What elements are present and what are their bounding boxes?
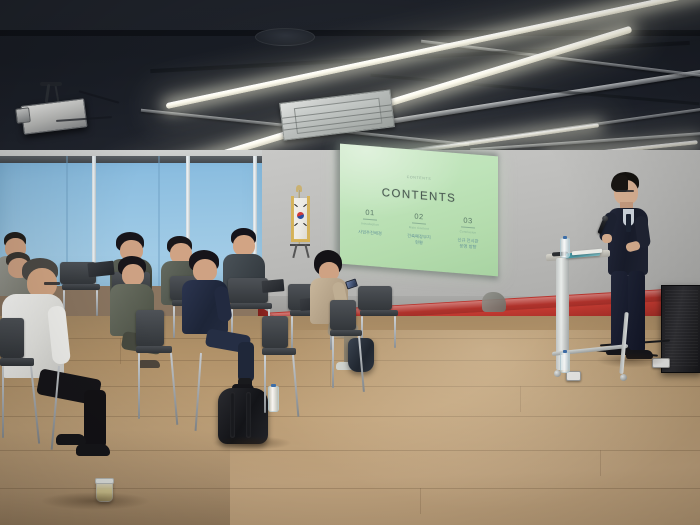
presenter-hand-left: [602, 234, 612, 243]
presenter-necktie: [626, 214, 631, 232]
ceiling-dome-fixture: [255, 28, 315, 46]
water-bottle: [560, 352, 570, 373]
slide-section: 03 Conclusion 신규 전시관 운영 방향: [446, 214, 490, 252]
water-bottle: [268, 386, 279, 412]
floor-shadow: [40, 492, 150, 510]
slide-divider: [412, 222, 426, 224]
shoe: [56, 434, 86, 445]
projection-screen: CONTENTS CONTENTS 01 Introduction 사업추진배경…: [340, 144, 498, 277]
slide-section-caption: Main Content: [397, 224, 441, 232]
presenter-shadow: [596, 352, 666, 368]
presenter-leg-right: [628, 271, 645, 354]
projector-cable: [79, 90, 120, 103]
slide-section: 01 Introduction 사업추진배경: [348, 206, 392, 244]
slide-section-caption: Introduction: [348, 220, 392, 228]
laptop: [87, 261, 114, 278]
shoe: [76, 444, 110, 456]
slide-divider: [363, 218, 377, 220]
eyeglasses-icon: [616, 190, 634, 192]
slide-section-number: 03: [446, 214, 490, 227]
eyeglasses-icon: [44, 282, 60, 285]
slide-section-subtitle: 신규 전시관 운영 방향: [446, 236, 490, 252]
slide-section-caption: Conclusion: [446, 228, 490, 236]
slide-divider: [461, 226, 475, 228]
slide-section-subtitle: 사업추진배경: [348, 228, 392, 238]
slide-section-subtitle: 건축폐장부지 현황: [397, 232, 441, 248]
slide-sections: 01 Introduction 사업추진배경 02 Main Content 건…: [348, 206, 490, 252]
laptop: [262, 279, 285, 293]
slide-section: 02 Main Content 건축폐장부지 현황: [397, 210, 441, 248]
floor-shadow: [0, 430, 230, 525]
water-bottle: [560, 238, 570, 258]
floor-shadow: [212, 436, 292, 450]
seminar-room-photo: CONTENTS CONTENTS 01 Introduction 사업추진배경…: [0, 0, 700, 525]
